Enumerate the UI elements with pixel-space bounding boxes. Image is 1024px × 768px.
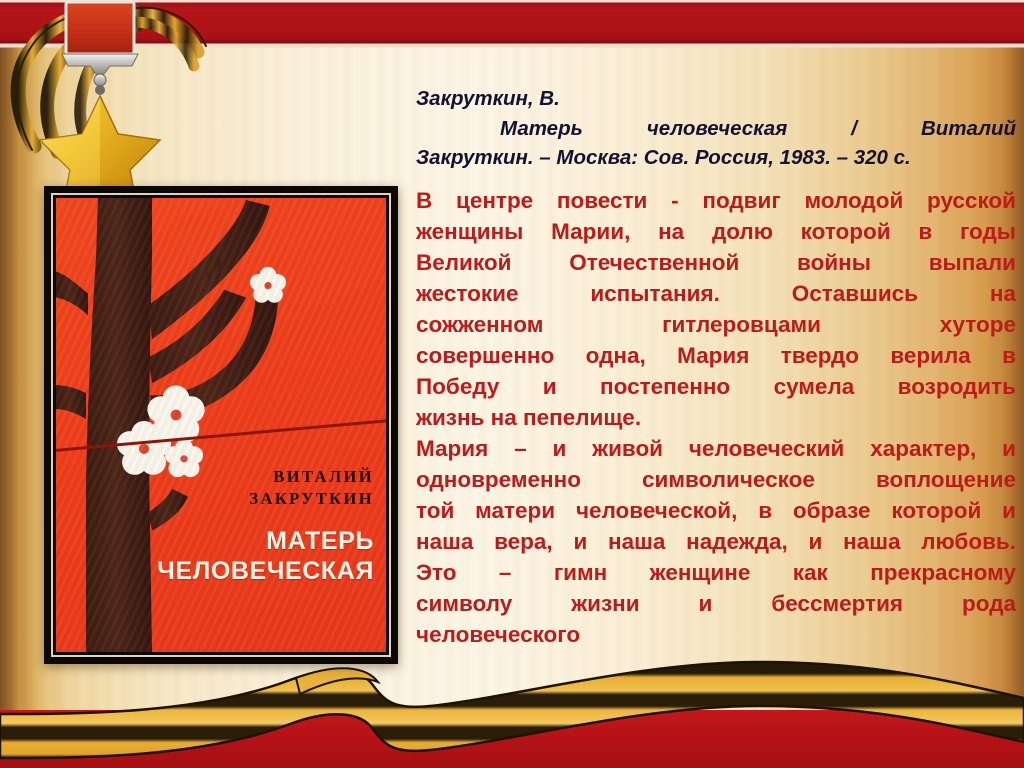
book-cover-inner-border: ВИТАЛИЙ ЗАКРУТКИН МАТЕРЬ ЧЕЛОВЕЧЕСКАЯ: [51, 193, 391, 657]
annotation-paragraph-1: В центре повести - подвиг молодой русско…: [416, 185, 1016, 433]
book-cover-author: ВИТАЛИЙ ЗАКРУТКИН: [117, 466, 374, 511]
annotation-line: женщины Марии, на долю которой в годы: [416, 216, 1016, 247]
annotation-line: Мария – и живой человеческий характер, и: [416, 433, 1016, 464]
citation-line-1: Закруткин, В.: [416, 84, 1016, 114]
book-cover-artwork: ВИТАЛИЙ ЗАКРУТКИН МАТЕРЬ ЧЕЛОВЕЧЕСКАЯ: [56, 198, 386, 652]
annotation-line: одновременно символическое воплощение: [416, 464, 1016, 495]
annotation-line: жизнь на пепелище.: [416, 402, 1016, 433]
annotation-paragraph-2: Мария – и живой человеческий характер, и…: [416, 433, 1016, 650]
citation-line-3: Закруткин. – Москва: Сов. Россия, 1983. …: [416, 143, 1016, 173]
annotation-line: сожженном гитлеровцами хуторе: [416, 309, 1016, 340]
annotation-line: символу жизни и бессмертия рода: [416, 588, 1016, 619]
book-cover[interactable]: ВИТАЛИЙ ЗАКРУТКИН МАТЕРЬ ЧЕЛОВЕЧЕСКАЯ: [44, 186, 398, 664]
blossom-upper: [250, 267, 286, 303]
annotation-line: наша вера, и наша надежда, и наша любовь…: [416, 526, 1016, 557]
annotation-line: той матери человеческой, в образе которо…: [416, 495, 1016, 526]
annotation-line: совершенно одна, Мария твердо верила в: [416, 340, 1016, 371]
text-column: Закруткин, В. Матерь человеческая / Вита…: [416, 84, 1016, 650]
annotation-line: человеческого: [416, 619, 1016, 650]
slide-root: ВИТАЛИЙ ЗАКРУТКИН МАТЕРЬ ЧЕЛОВЕЧЕСКАЯ За…: [0, 0, 1024, 768]
citation-line-2: Матерь человеческая / Виталий: [416, 114, 1016, 144]
citation-line-2-text: Матерь человеческая / Виталий: [500, 117, 1016, 140]
annotation-line: жестокие испытания. Оставшись на: [416, 278, 1016, 309]
annotation-line: Великой Отечественной войны выпали: [416, 247, 1016, 278]
gold-star-medal-icon: [0, 0, 210, 215]
annotation-line: Победу и постепенно сумела возродить: [416, 371, 1016, 402]
book-cover-author-line2: ЗАКРУТКИН: [117, 488, 374, 510]
annotation-body: В центре повести - подвиг молодой русско…: [416, 185, 1016, 651]
annotation-line: В центре повести - подвиг молодой русско…: [416, 185, 1016, 216]
bibliographic-citation: Закруткин, В. Матерь человеческая / Вита…: [416, 84, 1016, 173]
annotation-line: Это – гимн женщине как прекрасному: [416, 557, 1016, 588]
book-cover-title-line2: ЧЕЛОВЕЧЕСКАЯ: [117, 557, 374, 587]
book-cover-title-line1: МАТЕРЬ: [117, 527, 374, 557]
book-cover-title: МАТЕРЬ ЧЕЛОВЕЧЕСКАЯ: [117, 527, 374, 586]
book-cover-author-line1: ВИТАЛИЙ: [117, 466, 374, 488]
book-cover-text: ВИТАЛИЙ ЗАКРУТКИН МАТЕРЬ ЧЕЛОВЕЧЕСКАЯ: [117, 466, 374, 587]
